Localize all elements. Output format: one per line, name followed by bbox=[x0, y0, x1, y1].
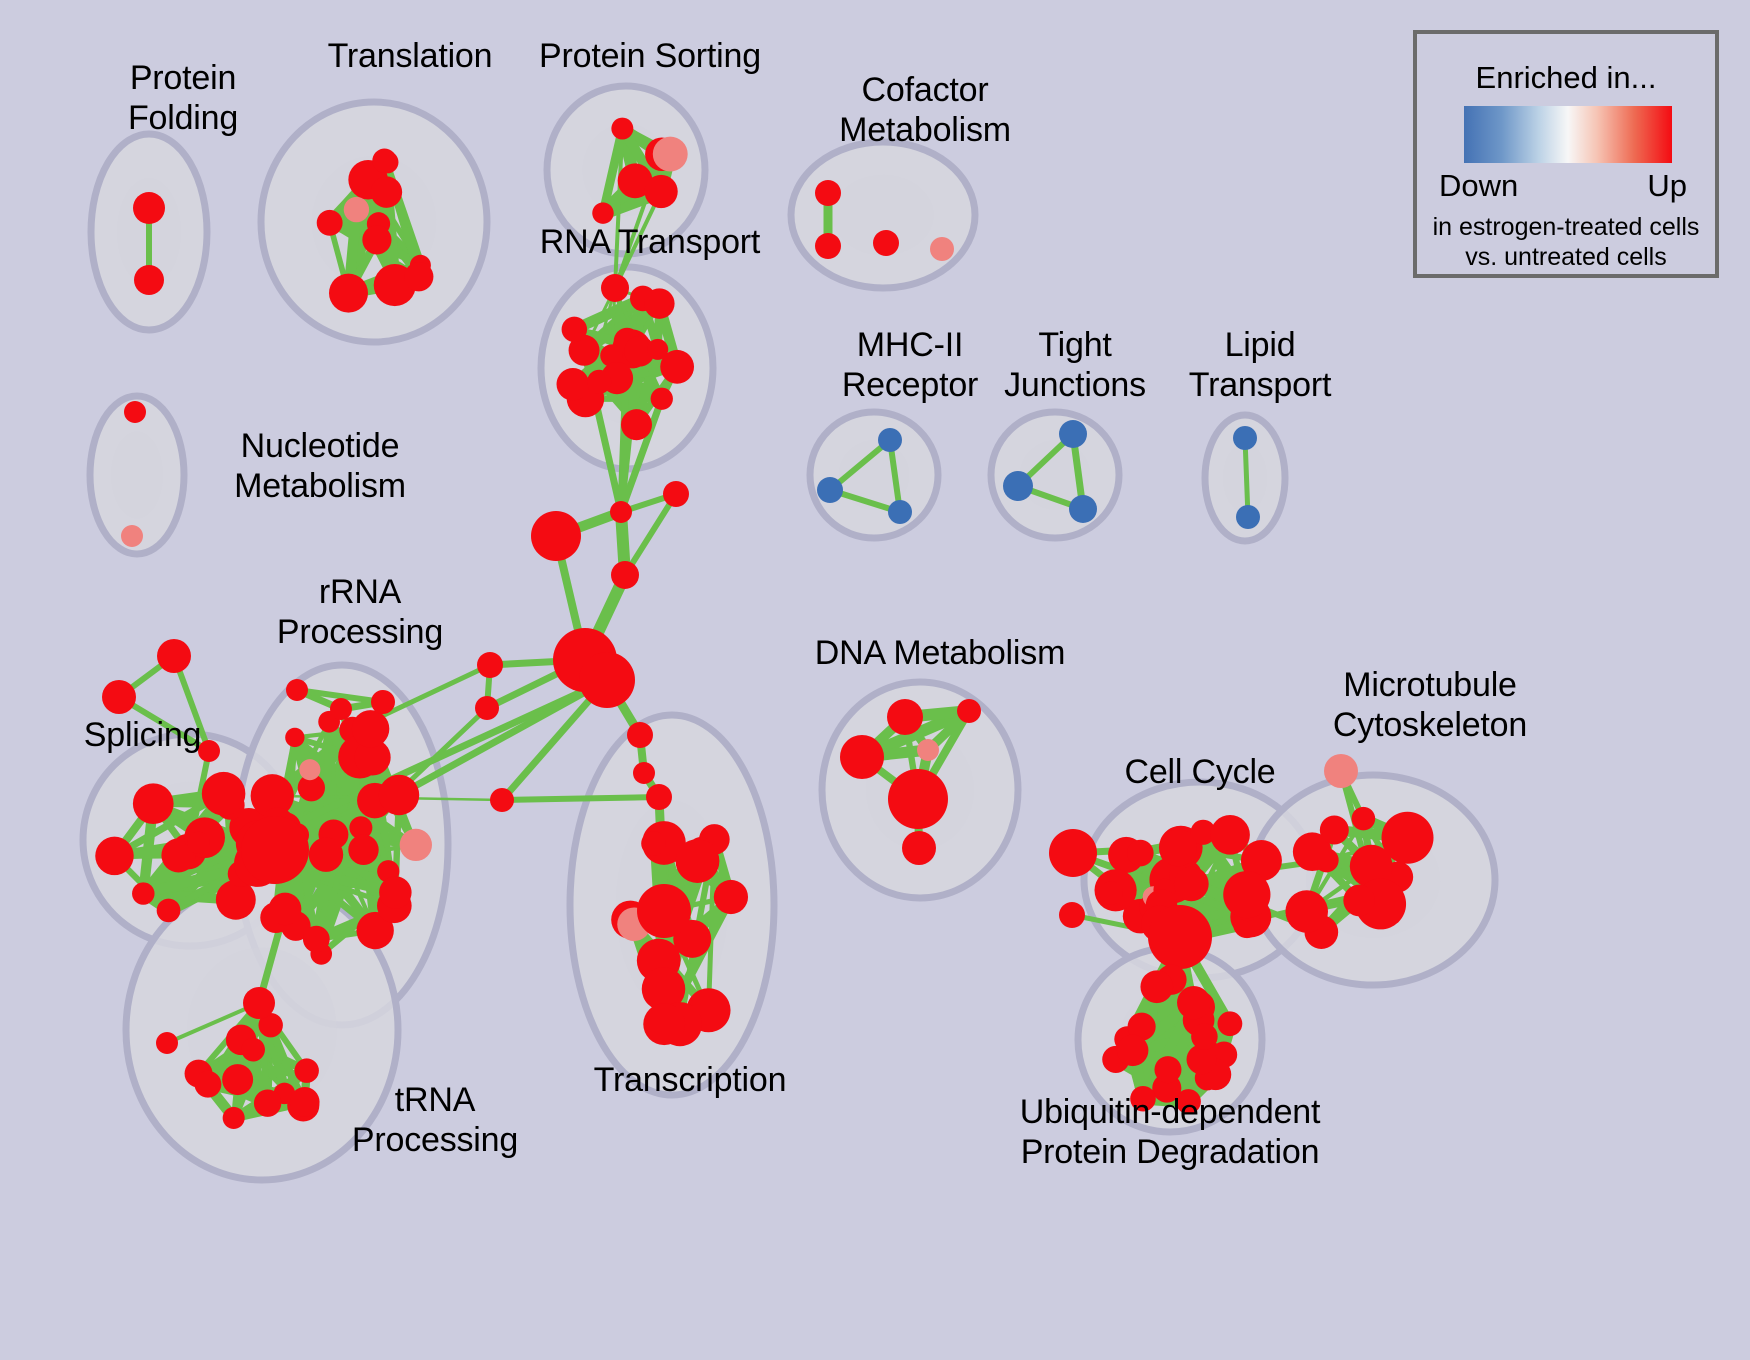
network-node[interactable] bbox=[1352, 807, 1376, 831]
network-node[interactable] bbox=[610, 501, 632, 523]
network-node[interactable] bbox=[817, 477, 843, 503]
network-node[interactable] bbox=[587, 370, 611, 394]
network-node[interactable] bbox=[241, 1038, 265, 1062]
network-node[interactable] bbox=[1218, 1011, 1243, 1036]
network-node[interactable] bbox=[134, 265, 164, 295]
network-node[interactable] bbox=[902, 831, 936, 865]
cluster-label-protein-sorting: Protein Sorting bbox=[500, 36, 800, 76]
network-node[interactable] bbox=[1285, 890, 1328, 933]
network-node[interactable] bbox=[329, 274, 368, 313]
network-node[interactable] bbox=[1059, 902, 1085, 928]
network-node[interactable] bbox=[646, 784, 672, 810]
network-node[interactable] bbox=[371, 176, 402, 207]
network-node[interactable] bbox=[643, 1003, 685, 1045]
network-node[interactable] bbox=[477, 652, 503, 678]
network-node[interactable] bbox=[647, 339, 668, 360]
network-node[interactable] bbox=[1236, 505, 1260, 529]
network-node[interactable] bbox=[1069, 495, 1097, 523]
network-node[interactable] bbox=[379, 775, 419, 815]
network-node[interactable] bbox=[330, 698, 352, 720]
cluster-label-splicing: Splicing bbox=[55, 715, 230, 755]
network-node[interactable] bbox=[372, 149, 396, 173]
network-node[interactable] bbox=[1191, 1023, 1218, 1050]
cluster-label-translation: Translation bbox=[285, 36, 535, 76]
cluster-label-cofactor-metabolism: Cofactor Metabolism bbox=[790, 70, 1060, 150]
network-node[interactable] bbox=[1154, 1056, 1181, 1083]
network-node[interactable] bbox=[243, 987, 275, 1019]
network-edge bbox=[502, 797, 659, 800]
network-node[interactable] bbox=[633, 762, 655, 784]
network-node[interactable] bbox=[1148, 905, 1212, 969]
network-node[interactable] bbox=[1223, 871, 1270, 918]
network-node[interactable] bbox=[490, 788, 514, 812]
network-node[interactable] bbox=[254, 1089, 281, 1116]
cluster-label-cell-cycle: Cell Cycle bbox=[1100, 752, 1300, 792]
network-node[interactable] bbox=[873, 230, 899, 256]
network-node[interactable] bbox=[1117, 1035, 1148, 1066]
network-node[interactable] bbox=[1127, 840, 1154, 867]
network-node[interactable] bbox=[317, 210, 343, 236]
network-node[interactable] bbox=[303, 926, 330, 953]
network-node[interactable] bbox=[641, 831, 665, 855]
legend-box: Enriched in... Down Up in estrogen-treat… bbox=[1413, 30, 1719, 278]
network-node[interactable] bbox=[404, 262, 433, 291]
network-node[interactable] bbox=[531, 511, 581, 561]
network-node[interactable] bbox=[592, 202, 613, 223]
cluster-label-dna-metabolism: DNA Metabolism bbox=[805, 633, 1075, 673]
network-node[interactable] bbox=[676, 839, 720, 883]
network-node[interactable] bbox=[1099, 881, 1122, 904]
network-node[interactable] bbox=[344, 197, 369, 222]
network-node[interactable] bbox=[400, 829, 432, 861]
cluster-label-tight-junctions: Tight Junctions bbox=[975, 325, 1175, 405]
network-node[interactable] bbox=[611, 118, 633, 140]
network-node[interactable] bbox=[222, 1064, 253, 1095]
network-node[interactable] bbox=[285, 728, 304, 747]
network-node[interactable] bbox=[352, 710, 389, 747]
network-node[interactable] bbox=[223, 1107, 245, 1129]
cluster-label-lipid-transport: Lipid Transport bbox=[1160, 325, 1360, 405]
cluster-label-microtubule-cytoskeleton: Microtubule Cytoskeleton bbox=[1300, 665, 1560, 745]
network-node[interactable] bbox=[475, 696, 499, 720]
cluster-label-transcription: Transcription bbox=[565, 1060, 815, 1100]
network-node[interactable] bbox=[840, 735, 884, 779]
network-node[interactable] bbox=[269, 893, 302, 926]
network-node[interactable] bbox=[888, 500, 912, 524]
network-node[interactable] bbox=[888, 769, 948, 829]
network-node[interactable] bbox=[1177, 986, 1210, 1019]
network-node[interactable] bbox=[1174, 867, 1209, 902]
cluster-label-trna-processing: tRNA Processing bbox=[320, 1080, 550, 1160]
network-node[interactable] bbox=[562, 317, 587, 342]
network-node[interactable] bbox=[362, 225, 391, 254]
legend-subtitle: in estrogen-treated cells vs. untreated … bbox=[1417, 212, 1715, 272]
network-node[interactable] bbox=[644, 288, 674, 318]
network-node[interactable] bbox=[1320, 815, 1349, 844]
network-node[interactable] bbox=[887, 699, 923, 735]
legend-title: Enriched in... bbox=[1417, 60, 1715, 96]
network-node[interactable] bbox=[241, 816, 309, 884]
cluster-label-rna-transport: RNA Transport bbox=[505, 222, 795, 262]
network-node[interactable] bbox=[651, 388, 673, 410]
colorbar-gradient bbox=[1464, 106, 1672, 163]
network-node[interactable] bbox=[1324, 754, 1358, 788]
network-node[interactable] bbox=[1210, 815, 1250, 855]
colorbar-high-label: Up bbox=[1647, 168, 1687, 204]
network-node[interactable] bbox=[202, 772, 246, 816]
network-node[interactable] bbox=[299, 759, 320, 780]
network-node[interactable] bbox=[156, 1032, 178, 1054]
network-node[interactable] bbox=[557, 368, 590, 401]
network-node[interactable] bbox=[815, 233, 841, 259]
network-node[interactable] bbox=[579, 652, 635, 708]
network-node[interactable] bbox=[371, 690, 395, 714]
network-node[interactable] bbox=[132, 882, 154, 904]
network-node[interactable] bbox=[1233, 426, 1257, 450]
network-node[interactable] bbox=[663, 481, 689, 507]
network-node[interactable] bbox=[1159, 829, 1196, 866]
network-node[interactable] bbox=[930, 237, 954, 261]
network-node[interactable] bbox=[309, 837, 343, 871]
cluster-label-rrna-processing: rRNA Processing bbox=[245, 572, 475, 652]
network-node[interactable] bbox=[917, 739, 939, 761]
network-node[interactable] bbox=[102, 680, 136, 714]
network-node[interactable] bbox=[1059, 420, 1087, 448]
network-node[interactable] bbox=[290, 1087, 320, 1117]
network-node[interactable] bbox=[1003, 471, 1033, 501]
network-node[interactable] bbox=[187, 832, 209, 854]
network-node[interactable] bbox=[637, 884, 691, 938]
network-node[interactable] bbox=[348, 835, 378, 865]
network-node[interactable] bbox=[157, 639, 191, 673]
network-node[interactable] bbox=[653, 137, 688, 172]
cluster-label-nucleotide-metabolism: Nucleotide Metabolism bbox=[195, 426, 445, 506]
network-node[interactable] bbox=[1049, 829, 1097, 877]
network-node[interactable] bbox=[714, 880, 748, 914]
network-node[interactable] bbox=[957, 699, 981, 723]
colorbar-low-label: Down bbox=[1439, 168, 1518, 204]
network-node[interactable] bbox=[124, 401, 146, 423]
enrichment-map-figure: Protein FoldingTranslationProtein Sortin… bbox=[0, 0, 1750, 1360]
network-node[interactable] bbox=[621, 409, 652, 440]
network-node[interactable] bbox=[133, 192, 165, 224]
network-node[interactable] bbox=[878, 428, 902, 452]
network-node[interactable] bbox=[627, 722, 653, 748]
cluster-hull-inner-nucleotide-metabolism bbox=[111, 432, 163, 519]
network-node[interactable] bbox=[601, 274, 629, 302]
network-node[interactable] bbox=[644, 175, 677, 208]
cluster-label-ubiquitin-degradation: Ubiquitin-dependent Protein Degradation bbox=[990, 1092, 1350, 1172]
network-node[interactable] bbox=[121, 525, 143, 547]
network-node[interactable] bbox=[133, 783, 174, 824]
cluster-label-protein-folding: Protein Folding bbox=[83, 58, 283, 138]
network-node[interactable] bbox=[379, 876, 411, 908]
network-node[interactable] bbox=[95, 837, 133, 875]
network-node[interactable] bbox=[294, 1058, 318, 1082]
network-node[interactable] bbox=[157, 899, 181, 923]
network-node[interactable] bbox=[815, 180, 841, 206]
network-node[interactable] bbox=[611, 561, 639, 589]
network-node[interactable] bbox=[286, 679, 308, 701]
network-node[interactable] bbox=[194, 1071, 221, 1098]
network-node[interactable] bbox=[1343, 885, 1375, 917]
network-node[interactable] bbox=[1140, 970, 1173, 1003]
